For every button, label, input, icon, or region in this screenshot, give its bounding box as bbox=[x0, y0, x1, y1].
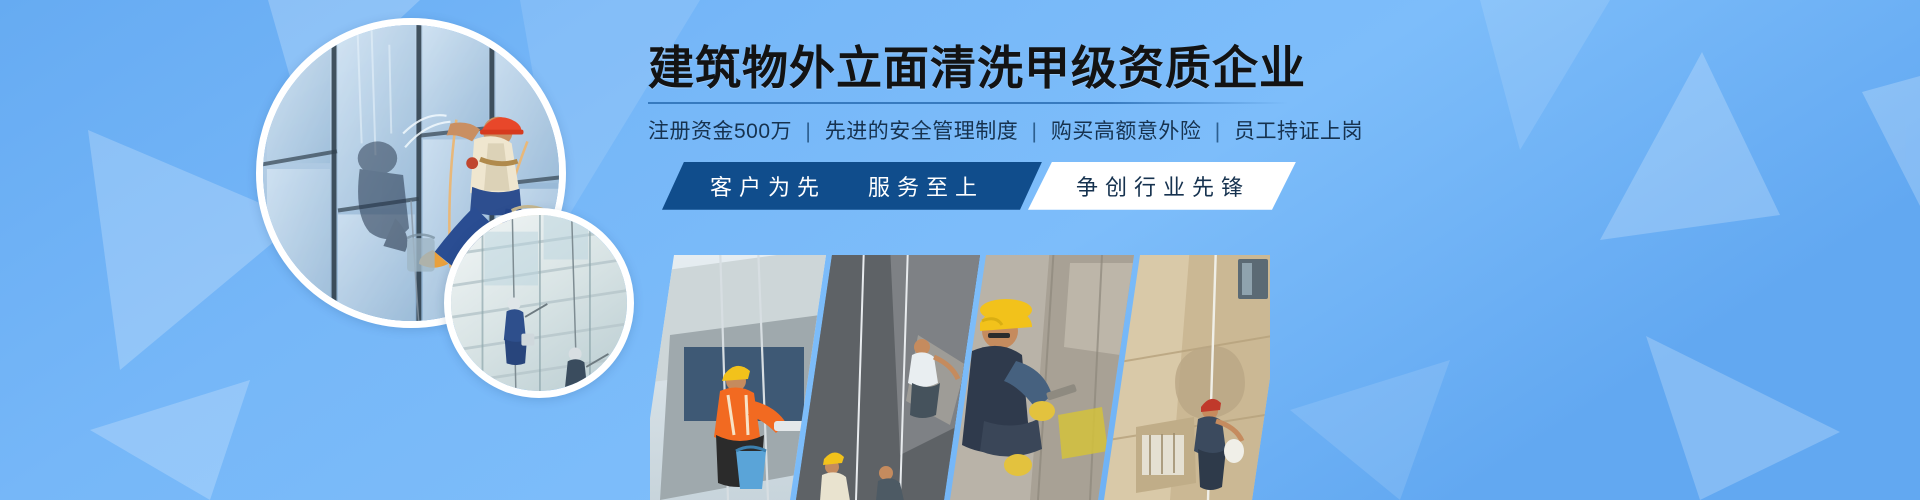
slogan-service-supreme: 服务至上 bbox=[868, 170, 984, 202]
headline-block: 建筑物外立面清洗甲级资质企业 注册资金500万 | 先进的安全管理制度 | 购买… bbox=[648, 44, 1308, 210]
feature-item-2: 先进的安全管理制度 bbox=[825, 120, 1019, 143]
feature-list: 注册资金500万 | 先进的安全管理制度 | 购买高额意外险 | 员工持证上岗 bbox=[648, 115, 1308, 145]
slogan-industry-pioneer: 争创行业先锋 bbox=[1076, 170, 1250, 202]
page-title: 建筑物外立面清洗甲级资质企业 bbox=[648, 44, 1308, 93]
feature-separator-3: | bbox=[1208, 120, 1228, 143]
slogan-ribbon-light-panel: 争创行业先锋 bbox=[1028, 162, 1296, 210]
promotional-banner: 建筑物外立面清洗甲级资质企业 注册资金500万 | 先进的安全管理制度 | 购买… bbox=[0, 0, 1920, 500]
feature-item-4: 员工持证上岗 bbox=[1234, 120, 1363, 143]
feature-separator-1: | bbox=[798, 120, 818, 143]
title-underline bbox=[648, 102, 1288, 104]
slogan-ribbon-dark-panel: 客户为先 服务至上 bbox=[662, 162, 1042, 210]
slanted-photo-strip bbox=[650, 215, 1270, 500]
circular-photo-group bbox=[246, 6, 646, 406]
feature-item-3: 购买高额意外险 bbox=[1051, 120, 1202, 143]
feature-item-1: 注册资金500万 bbox=[648, 120, 792, 143]
feature-separator-2: | bbox=[1025, 120, 1045, 143]
photo-two-workers-on-building-facade bbox=[444, 208, 634, 398]
slogan-customer-first: 客户为先 bbox=[710, 170, 826, 202]
slogan-ribbon: 客户为先 服务至上 争创行业先锋 bbox=[648, 162, 1288, 210]
